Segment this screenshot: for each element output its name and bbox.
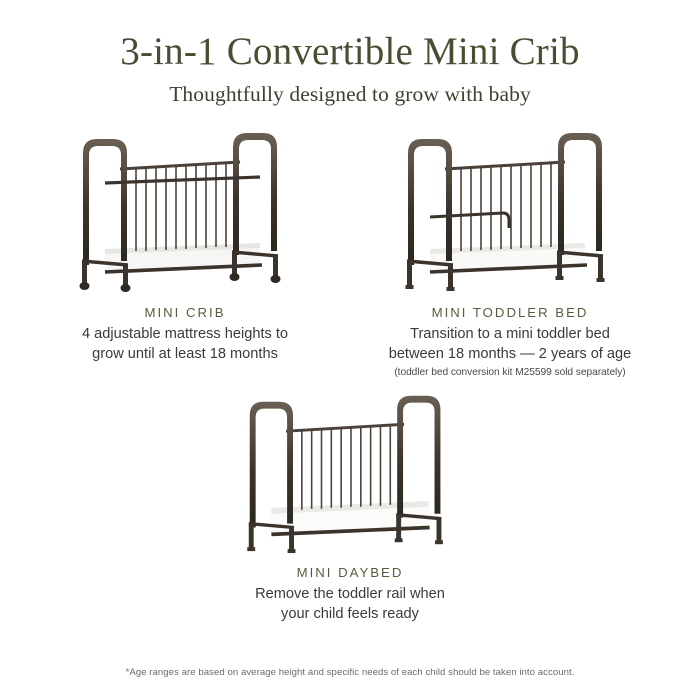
header: 3-in-1 Convertible Mini Crib Thoughtfull… <box>0 0 700 107</box>
description-line: 4 adjustable mattress heights to <box>82 324 288 344</box>
panel-description-mini-daybed: Remove the toddler rail when your child … <box>255 584 445 624</box>
page-title: 3-in-1 Convertible Mini Crib <box>0 30 700 74</box>
description-line: between 18 months — 2 years of age <box>389 344 632 364</box>
description-line: your child feels ready <box>255 604 445 624</box>
panel-mini-daybed: MINI DAYBED Remove the toddler rail when… <box>190 384 510 624</box>
back-top-rail <box>120 162 240 169</box>
panel-description-mini-crib: 4 adjustable mattress heights to grow un… <box>82 324 288 364</box>
panel-mini-toddler-bed: MINI TODDLER BED Transition to a mini to… <box>345 121 675 378</box>
panel-mini-crib: MINI CRIB 4 adjustable mattress heights … <box>25 121 345 378</box>
panel-row-bottom: MINI DAYBED Remove the toddler rail when… <box>0 384 700 624</box>
caster-wheel <box>80 273 281 292</box>
back-top-rail <box>286 424 404 431</box>
footboard-panel <box>232 133 278 260</box>
panel-description-mini-toddler-bed: Transition to a mini toddler bed between… <box>389 324 632 364</box>
footboard-spindles <box>241 143 271 260</box>
mini-daybed-illustration <box>225 384 475 556</box>
infographic-page: 3-in-1 Convertible Mini Crib Thoughtfull… <box>0 0 700 700</box>
conversion-kit-note: (toddler bed conversion kit M25599 sold … <box>394 367 625 378</box>
footboard-panel <box>557 133 603 260</box>
panel-row-top: MINI CRIB 4 adjustable mattress heights … <box>0 121 700 378</box>
mini-crib-illustration <box>60 121 310 296</box>
back-rail-spindles <box>292 424 390 510</box>
panel-label-mini-crib: MINI CRIB <box>144 305 225 320</box>
panel-label-mini-toddler-bed: MINI TODDLER BED <box>432 305 589 320</box>
description-line: grow until at least 18 months <box>82 344 288 364</box>
footboard-spindles <box>566 143 596 260</box>
page-subtitle: Thoughtfully designed to grow with baby <box>0 82 700 107</box>
panel-label-mini-daybed: MINI DAYBED <box>297 565 404 580</box>
back-top-rail <box>445 162 565 169</box>
description-line: Remove the toddler rail when <box>255 584 445 604</box>
footnote: *Age ranges are based on average height … <box>0 667 700 678</box>
mini-toddler-bed-illustration <box>385 121 635 296</box>
description-line: Transition to a mini toddler bed <box>389 324 632 344</box>
